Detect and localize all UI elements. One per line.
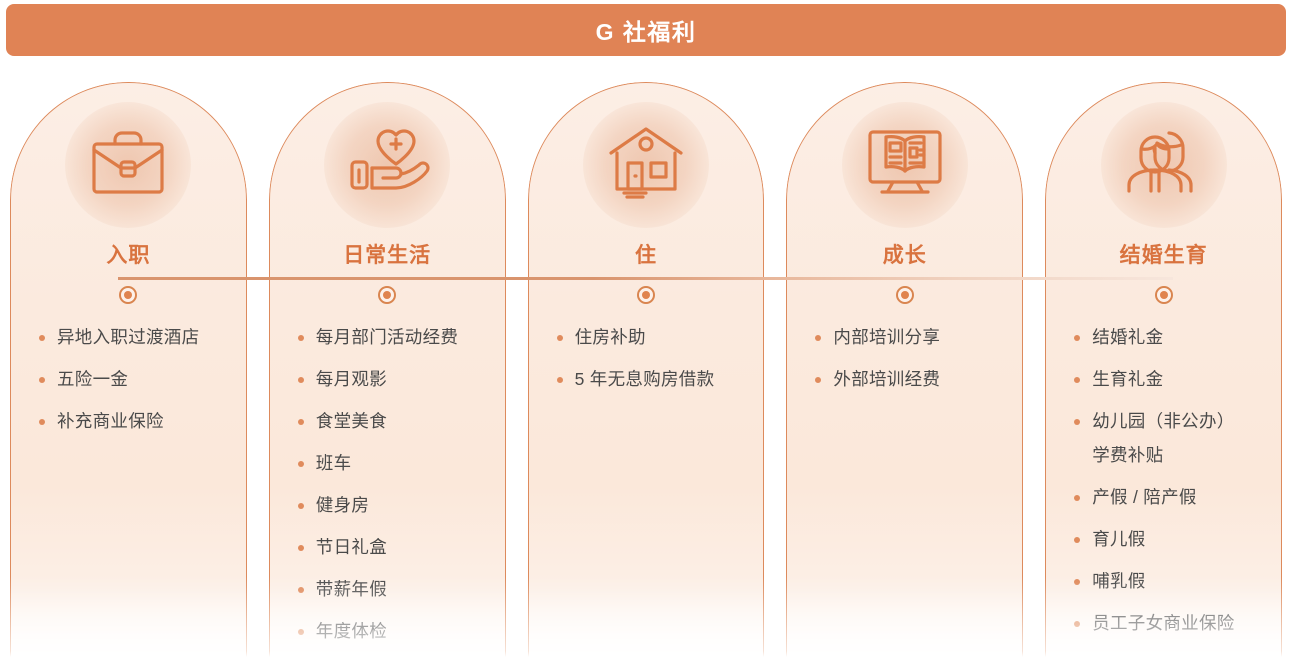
benefit-item: 补充商业保险: [35, 410, 236, 433]
card-title: 日常生活: [270, 239, 505, 269]
infographic-page: { "header": { "title": "G 社福利", "bg_colo…: [0, 0, 1292, 657]
benefit-item: 班车: [294, 452, 495, 475]
timeline-node: [1155, 286, 1173, 304]
benefit-item: 学费补贴: [1070, 444, 1271, 467]
card-icon-area: [529, 95, 764, 235]
benefit-item: 哺乳假: [1070, 570, 1271, 593]
monitor-book-icon: [862, 124, 948, 207]
card-icon-area: [1046, 95, 1281, 235]
benefit-item: 带薪年假: [294, 578, 495, 601]
benefit-card: 日常生活每月部门活动经费每月观影食堂美食班车健身房节日礼盒带薪年假年度体检: [269, 82, 506, 657]
benefit-item: 住房补助: [553, 326, 754, 349]
briefcase-icon: [85, 124, 171, 207]
benefit-item: 每月部门活动经费: [294, 326, 495, 349]
card-title: 成长: [787, 239, 1022, 269]
benefit-item: 结婚礼金: [1070, 326, 1271, 349]
card-title: 住: [529, 239, 764, 269]
benefit-card: 入职异地入职过渡酒店五险一金补充商业保险: [10, 82, 247, 657]
benefit-item: 每月观影: [294, 368, 495, 391]
benefit-item: 5 年无息购房借款: [553, 368, 754, 391]
benefit-item-list: 结婚礼金生育礼金幼儿园（非公办）学费补贴产假 / 陪产假育儿假哺乳假员工子女商业…: [1046, 326, 1281, 635]
benefit-card: 结婚生育结婚礼金生育礼金幼儿园（非公办）学费补贴产假 / 陪产假育儿假哺乳假员工…: [1045, 82, 1282, 657]
benefit-item: 年度体检: [294, 620, 495, 643]
benefit-item: 五险一金: [35, 368, 236, 391]
benefit-item: 健身房: [294, 494, 495, 517]
hand-heart-care-icon: [342, 124, 432, 207]
card-icon-area: [270, 95, 505, 235]
benefit-item: 员工子女商业保险: [1070, 612, 1271, 635]
benefit-item: 外部培训经费: [811, 368, 1012, 391]
benefit-item: 节日礼盒: [294, 536, 495, 559]
timeline-node: [378, 286, 396, 304]
benefit-item: 食堂美食: [294, 410, 495, 433]
benefit-item: 异地入职过渡酒店: [35, 326, 236, 349]
house-icon: [603, 123, 689, 208]
benefit-item-list: 每月部门活动经费每月观影食堂美食班车健身房节日礼盒带薪年假年度体检: [270, 326, 505, 643]
benefit-item-list: 异地入职过渡酒店五险一金补充商业保险: [11, 326, 246, 433]
card-icon-area: [787, 95, 1022, 235]
timeline-node: [637, 286, 655, 304]
benefit-card: 住住房补助5 年无息购房借款: [528, 82, 765, 657]
timeline-node: [896, 286, 914, 304]
card-title: 入职: [11, 239, 246, 269]
timeline-node: [119, 286, 137, 304]
benefit-item: 产假 / 陪产假: [1070, 486, 1271, 509]
couple-icon: [1119, 123, 1209, 208]
card-icon-area: [11, 95, 246, 235]
benefit-card: 成长内部培训分享外部培训经费: [786, 82, 1023, 657]
benefit-item: 内部培训分享: [811, 326, 1012, 349]
timeline-connector: [118, 277, 1173, 280]
benefit-item: 幼儿园（非公办）: [1070, 410, 1271, 433]
benefit-card-list: 入职异地入职过渡酒店五险一金补充商业保险 日常生活每月部门活动经费每月观影食堂美…: [10, 82, 1282, 657]
header-bar: G 社福利: [6, 4, 1286, 56]
page-title: G 社福利: [596, 13, 697, 47]
benefit-item: 育儿假: [1070, 528, 1271, 551]
benefit-item-list: 内部培训分享外部培训经费: [787, 326, 1022, 391]
card-title: 结婚生育: [1046, 239, 1281, 269]
benefit-item-list: 住房补助5 年无息购房借款: [529, 326, 764, 391]
benefit-item: 生育礼金: [1070, 368, 1271, 391]
